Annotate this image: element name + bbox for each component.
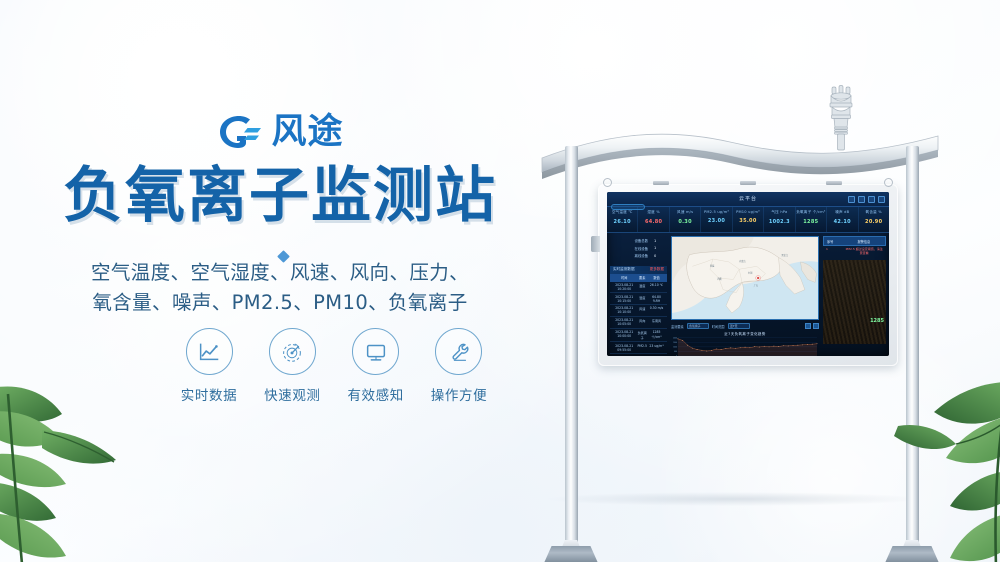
- table-cell: 东南风: [648, 318, 665, 326]
- param-filter-label: 监测要素: [671, 324, 684, 329]
- kpi-value: 26.10: [607, 219, 637, 225]
- monitor-screen-icon: [352, 328, 399, 375]
- svg-text:2000: 2000: [673, 337, 677, 339]
- site-camera-feed[interactable]: [823, 260, 886, 344]
- kpi-card: PM2.5 ug/m³23.00: [701, 207, 732, 232]
- support-post-right: [906, 146, 919, 552]
- table-row[interactable]: 2023-08-21 10:00:00负氧离子1285 个/cm³: [610, 329, 667, 343]
- poster-canvas: 风途 负氧离子监测站 空气温度、空气湿度、风速、风向、压力、 氧含量、噪声、PM…: [0, 0, 1000, 562]
- kpi-label: 空气温度 ℃: [607, 210, 637, 215]
- table-cell: 23 ug/m³: [648, 344, 665, 352]
- feature-item-fast-observation: 快速观测: [261, 328, 323, 404]
- kpi-value: 20.90: [859, 219, 889, 225]
- table-cell: 26.10 ℃: [648, 283, 665, 291]
- feature-item-easy-operation: 操作方便: [428, 328, 490, 404]
- chart-view-bar-button[interactable]: [813, 323, 819, 329]
- hero-subtitle: 空气温度、空气湿度、风速、风向、压力、 氧含量、噪声、PM2.5、PM10、负氧…: [0, 258, 560, 318]
- table-row[interactable]: 2023-08-21 09:50:00噪声42.1 dB: [610, 354, 667, 356]
- kpi-label: 气压 hPa: [764, 210, 794, 215]
- table-row[interactable]: 2023-08-21 10:10:00风速0.30 m/s: [610, 305, 667, 317]
- kpi-label: 负氧离子 个/cm³: [796, 210, 826, 215]
- alarm-table-headers: 序号报警信息: [823, 236, 886, 246]
- feature-item-realtime-data: 实时数据: [178, 328, 240, 404]
- dashboard-right-panel: 序号报警信息 1PM2.5 超过设定阈值，请注意查看 1285: [821, 233, 889, 356]
- kpi-value: 42.10: [827, 219, 857, 225]
- chart-view-line-button[interactable]: [805, 323, 811, 329]
- support-post-left: [565, 146, 578, 552]
- hero-text-column: 风途 负氧离子监测站 空气温度、空气湿度、风速、风向、压力、 氧含量、噪声、PM…: [0, 0, 560, 562]
- side-connector-box: [591, 236, 600, 252]
- gear-icon[interactable]: [868, 196, 875, 203]
- dashboard-header-tools[interactable]: [813, 194, 885, 205]
- live-readout-value: 1285: [870, 318, 884, 324]
- device-summary: 设备总数1在线设备1离线设备0: [610, 236, 667, 264]
- radar-signal-icon: [269, 328, 316, 375]
- display-cabinet: 云平台 空气温度 ℃26.10湿度 %64.80风速 m/s0.30PM2.5 …: [598, 184, 898, 366]
- chart-view-buttons[interactable]: [805, 323, 819, 329]
- table-cell: 1285 个/cm³: [648, 330, 665, 340]
- table-cell: 温度: [636, 283, 648, 291]
- data-table-column-header: 数值: [648, 275, 665, 280]
- feature-label: 快速观测: [261, 384, 323, 404]
- device-summary-value: 1: [654, 246, 656, 250]
- china-map[interactable]: 新疆 西藏 内蒙古 黑龙江 广东 中国: [671, 236, 819, 320]
- range-filter-select[interactable]: 近7天: [728, 323, 750, 329]
- kpi-label: 湿度 %: [638, 210, 668, 215]
- bell-icon[interactable]: [858, 196, 865, 203]
- table-cell: 2023-08-21 10:10:00: [612, 306, 636, 314]
- wave-canopy: [540, 112, 940, 184]
- table-cell: 风向: [636, 318, 648, 326]
- table-cell: 2023-08-21 10:15:00: [612, 295, 636, 303]
- feature-label: 实时数据: [178, 384, 240, 404]
- kpi-card: 氧含量 %20.90: [859, 207, 889, 232]
- device-summary-label: 在线设备: [622, 246, 648, 251]
- page-title: 负氧离子监测站: [0, 163, 560, 230]
- device-summary-label: 设备总数: [622, 238, 648, 243]
- alarm-table-body: 1PM2.5 超过设定阈值，请注意查看: [823, 246, 886, 257]
- alarm-cell: PM2.5 超过设定阈值，请注意查看: [845, 247, 883, 255]
- kpi-value: 64.80: [638, 219, 668, 225]
- table-row[interactable]: 2023-08-21 09:55:00PM2.523 ug/m³: [610, 342, 667, 354]
- table-row[interactable]: 2023-08-21 10:20:00温度26.10 ℃: [610, 282, 667, 294]
- svg-text:中国: 中国: [748, 271, 752, 275]
- kpi-value: 1002.3: [764, 219, 794, 225]
- device-summary-label: 离线设备: [622, 253, 648, 258]
- kpi-card: 噪声 dB42.10: [827, 207, 858, 232]
- live-readout: 1285: [870, 307, 884, 326]
- trend-chart: 近7天负氧离子变化趋势 200015001000500008-1508-1508…: [671, 331, 819, 356]
- subtitle-line-1: 空气温度、空气湿度、风速、风向、压力、: [0, 258, 560, 288]
- mount-clip-3: [826, 181, 842, 185]
- table-row[interactable]: 2023-08-21 10:05:00风向东南风: [610, 317, 667, 329]
- base-plate-right: [885, 546, 939, 562]
- feature-item-effective-sensing: 有效感知: [345, 328, 407, 404]
- dashboard-header: 云平台: [607, 192, 889, 207]
- brand-name: 风途: [271, 115, 343, 150]
- data-table-title: 实时监测数据: [613, 267, 635, 272]
- dashboard-screen[interactable]: 云平台 空气温度 ℃26.10湿度 %64.80风速 m/s0.30PM2.5 …: [607, 192, 889, 356]
- svg-text:1500: 1500: [673, 342, 677, 344]
- feature-label: 有效感知: [345, 384, 407, 404]
- data-table-header-bar: 实时监测数据 更多数据: [610, 266, 667, 274]
- kpi-card: 湿度 %64.80: [638, 207, 669, 232]
- fengtu-wind-logo-icon: [216, 112, 262, 152]
- mount-eyelet-left: [603, 178, 612, 187]
- alarm-column-header: 序号: [827, 239, 846, 244]
- kpi-card: 风速 m/s0.30: [670, 207, 701, 232]
- data-table-column-header: 要素: [636, 275, 648, 280]
- mount-clip-2: [740, 181, 756, 185]
- svg-text:黑龙江: 黑龙江: [782, 253, 789, 257]
- dashboard-left-panel: 设备总数1在线设备1离线设备0 实时监测数据 更多数据 时间要素数值 2023-…: [607, 233, 669, 356]
- chart-controls[interactable]: 监测要素 负氧离子 时间范围 近7天: [671, 323, 819, 329]
- line-chart-icon: [186, 328, 233, 375]
- station-tag-badge: [611, 204, 645, 210]
- wrench-tool-icon: [435, 328, 482, 375]
- device-summary-row: 设备总数1: [622, 238, 667, 243]
- table-cell: 湿度: [636, 295, 648, 303]
- kpi-label: 噪声 dB: [827, 210, 857, 215]
- kpi-value: 0.30: [670, 219, 700, 225]
- alarm-column-header: 报警信息: [846, 239, 882, 244]
- mount-eyelet-right: [884, 178, 893, 187]
- table-row[interactable]: 2023-08-21 10:15:00湿度64.80 %RH: [610, 293, 667, 305]
- feature-label: 操作方便: [428, 384, 490, 404]
- table-cell: 2023-08-21 10:05:00: [612, 318, 636, 326]
- kpi-value: 35.00: [733, 218, 763, 224]
- feature-list: 实时数据 快速观测: [178, 328, 490, 404]
- svg-text:500: 500: [674, 351, 677, 353]
- kpi-row: 空气温度 ℃26.10湿度 %64.80风速 m/s0.30PM2.5 ug/m…: [607, 207, 889, 233]
- table-cell: 2023-08-21 10:00:00: [612, 330, 636, 340]
- mount-clip-1: [653, 181, 669, 185]
- kpi-card: 空气温度 ℃26.10: [607, 207, 638, 232]
- brand-lockup: 风途: [0, 112, 560, 152]
- table-cell: 2023-08-21 10:20:00: [612, 283, 636, 291]
- table-cell: 2023-08-21 09:55:00: [612, 344, 636, 352]
- device-summary-value: 0: [654, 254, 656, 258]
- data-table-column-header: 时间: [612, 275, 636, 280]
- kpi-label: PM2.5 ug/m³: [701, 210, 731, 214]
- kpi-card: 负氧离子 个/cm³1285: [796, 207, 827, 232]
- kpi-label: 氧含量 %: [859, 210, 889, 215]
- subtitle-line-2: 氧含量、噪声、PM2.5、PM10、负氧离子: [0, 288, 560, 318]
- svg-text:内蒙古: 内蒙古: [739, 259, 746, 263]
- table-cell: 负氧离子: [636, 330, 648, 340]
- dashboard-center-panel: 新疆 西藏 内蒙古 黑龙江 广东 中国 监测要素: [669, 233, 821, 356]
- kpi-value: 23.00: [701, 218, 731, 224]
- alarm-cell: 1: [826, 247, 845, 255]
- device-summary-row: 离线设备0: [622, 253, 667, 258]
- param-filter-select[interactable]: 负氧离子: [687, 323, 709, 329]
- table-cell: 风速: [636, 306, 648, 314]
- alarm-row[interactable]: 1PM2.5 超过设定阈值，请注意查看: [823, 246, 886, 257]
- device-summary-value: 1: [654, 239, 656, 243]
- data-table-column-headers: 时间要素数值: [610, 274, 667, 282]
- device-summary-row: 在线设备1: [622, 246, 667, 251]
- kpi-label: 风速 m/s: [670, 210, 700, 215]
- range-filter-label: 时间范围: [712, 324, 725, 329]
- base-plate-left: [544, 546, 598, 562]
- kpi-label: PM10 ug/m³: [733, 210, 763, 214]
- table-cell: 64.80 %RH: [648, 295, 665, 303]
- dashboard-body: 设备总数1在线设备1离线设备0 实时监测数据 更多数据 时间要素数值 2023-…: [607, 233, 889, 356]
- data-table-body: 2023-08-21 10:20:00温度26.10 ℃2023-08-21 1…: [610, 282, 667, 357]
- logout-icon[interactable]: [878, 196, 885, 203]
- table-cell: 0.30 m/s: [648, 306, 665, 314]
- kpi-value: 1285: [796, 219, 826, 225]
- data-table-more-link[interactable]: 更多数据: [650, 267, 664, 272]
- user-icon[interactable]: [848, 196, 855, 203]
- kpi-card: 气压 hPa1002.3: [764, 207, 795, 232]
- svg-text:1000: 1000: [673, 347, 677, 349]
- monitoring-station-product: 云平台 空气温度 ℃26.10湿度 %64.80风速 m/s0.30PM2.5 …: [540, 84, 950, 514]
- table-cell: PM2.5: [636, 344, 648, 352]
- kpi-card: PM10 ug/m³35.00: [733, 207, 764, 232]
